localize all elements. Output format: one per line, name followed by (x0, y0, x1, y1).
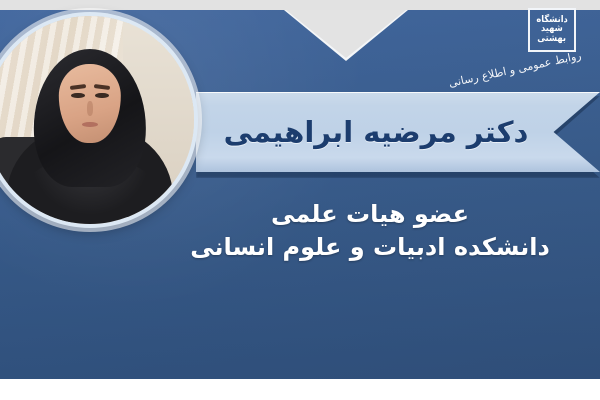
university-logo: دانشگاه شهید بهشتی روابط عمومی و اطلاع ر… (494, 6, 582, 98)
logo-box-icon: دانشگاه شهید بهشتی (528, 8, 576, 52)
logo-box-text: دانشگاه شهید بهشتی (533, 13, 571, 47)
portrait-image (0, 16, 194, 224)
subtitle-line-role: عضو هیات علمی (170, 198, 570, 231)
faculty-subtitle-block: عضو هیات علمی دانشکده ادبیات و علوم انسا… (170, 198, 570, 264)
faculty-name: دکتر مرضیه ابراهیمی (196, 92, 548, 172)
logo-line-3: بهشتی (538, 35, 567, 44)
subtitle-line-department: دانشکده ادبیات و علوم انسانی (170, 231, 570, 264)
portrait-nose (87, 101, 93, 116)
faculty-announcement-card: پرتره دکتر مرضیه ابراهیمی دکتر مرضیه ابر… (0, 0, 600, 400)
portrait-photo-circle: پرتره دکتر مرضیه ابراهیمی (0, 12, 198, 228)
name-ribbon-banner: دکتر مرضیه ابراهیمی (196, 92, 600, 174)
bottom-white-band (0, 379, 600, 400)
